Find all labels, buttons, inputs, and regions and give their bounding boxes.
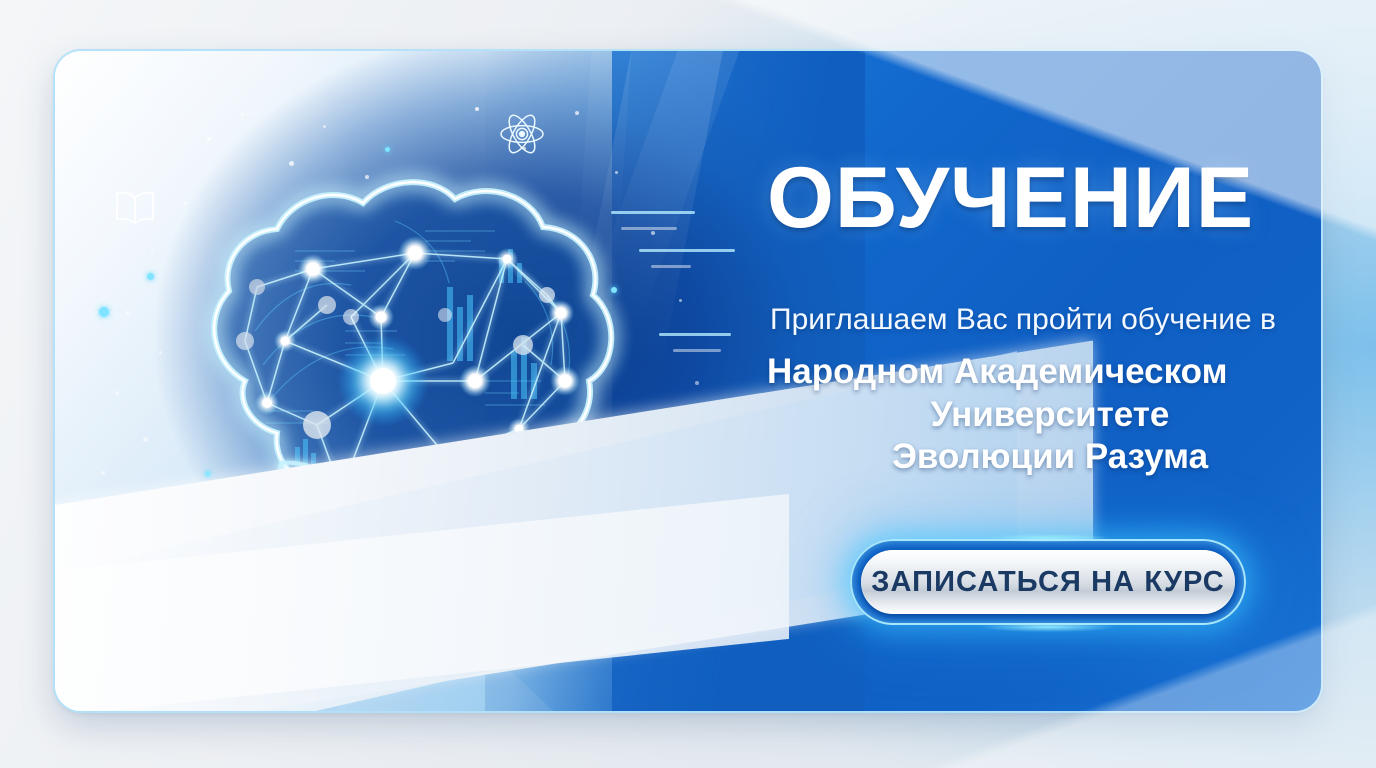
promo-subtitle: Приглашаем Вас пройти обучение в — [770, 303, 1321, 338]
organization-line-3: Эволюции Разума — [767, 436, 1321, 479]
organization-name: Народном Академическом Университете Эвол… — [767, 351, 1321, 479]
organization-line-2: Университете — [767, 394, 1321, 437]
enroll-course-button[interactable]: ЗАПИСАТЬСЯ НА КУРС — [850, 539, 1246, 625]
page-title: ОБУЧЕНИЕ — [767, 155, 1321, 241]
promo-content: ОБУЧЕНИЕ Приглашаем Вас пройти обучение … — [767, 51, 1321, 711]
page-backdrop: ОБУЧЕНИЕ Приглашаем Вас пройти обучение … — [0, 0, 1376, 768]
organization-line-1: Народном Академическом — [767, 351, 1321, 394]
cta-plate: ЗАПИСАТЬСЯ НА КУРС — [861, 550, 1235, 614]
cta-label: ЗАПИСАТЬСЯ НА КУРС — [871, 566, 1225, 599]
promo-card: ОБУЧЕНИЕ Приглашаем Вас пройти обучение … — [55, 51, 1321, 711]
